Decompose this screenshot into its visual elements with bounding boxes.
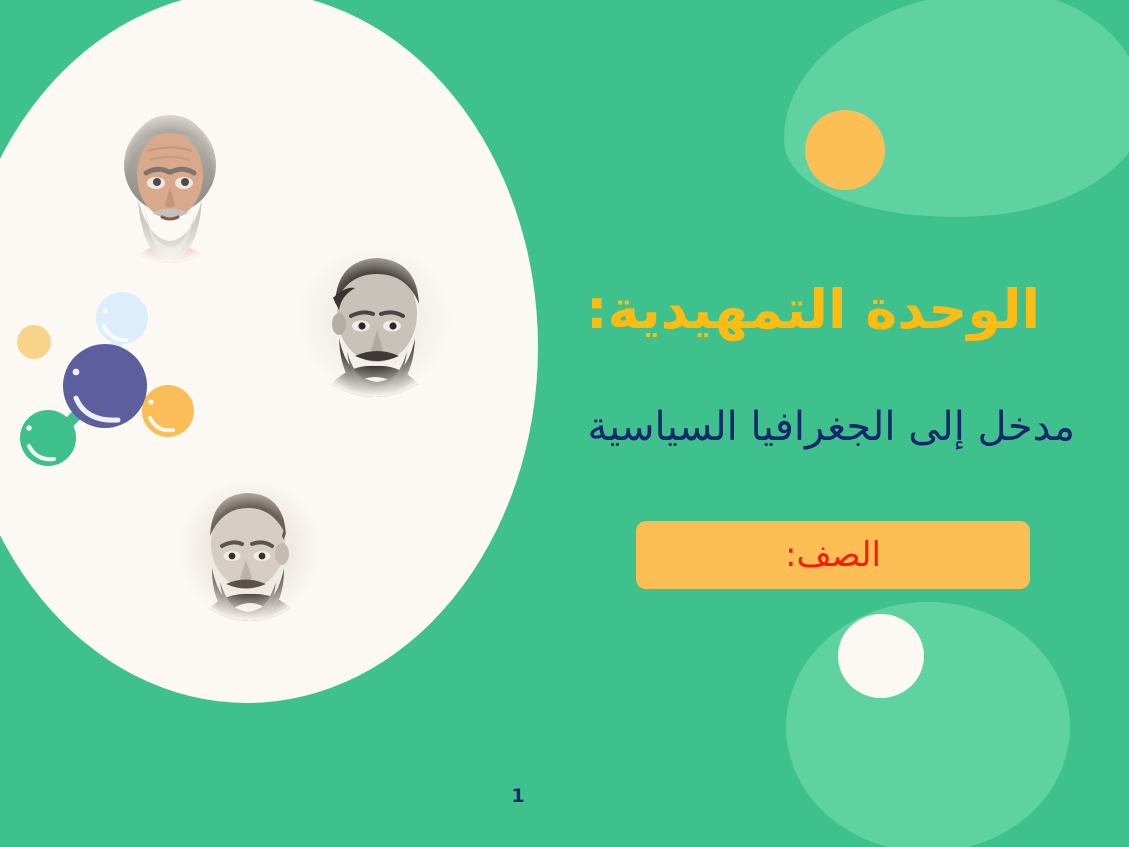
cream-circle-bottom-icon bbox=[838, 614, 924, 698]
atom-light-blue bbox=[96, 292, 148, 344]
molecule-illustration bbox=[0, 276, 210, 476]
orange-circle-top-icon bbox=[805, 110, 885, 190]
atom-green bbox=[20, 410, 76, 466]
page-title: الوحدة التمهيدية: bbox=[540, 279, 1040, 341]
portrait-scholar bbox=[178, 478, 321, 621]
portrait-ratzel bbox=[297, 242, 452, 397]
atom-small-yellow bbox=[17, 325, 51, 359]
blob-bottom-right-shape bbox=[786, 602, 1070, 847]
atom-orange bbox=[142, 385, 194, 437]
class-field-button[interactable]: الصف: bbox=[636, 521, 1030, 589]
atom-purple-center bbox=[63, 344, 147, 428]
portrait-aristotle bbox=[100, 103, 240, 263]
page-number: 1 bbox=[498, 785, 538, 807]
presentation-slide: الوحدة التمهيدية: مدخل إلى الجغرافيا الس… bbox=[0, 0, 1129, 847]
page-subtitle: مدخل إلى الجغرافيا السياسية bbox=[470, 401, 1075, 453]
